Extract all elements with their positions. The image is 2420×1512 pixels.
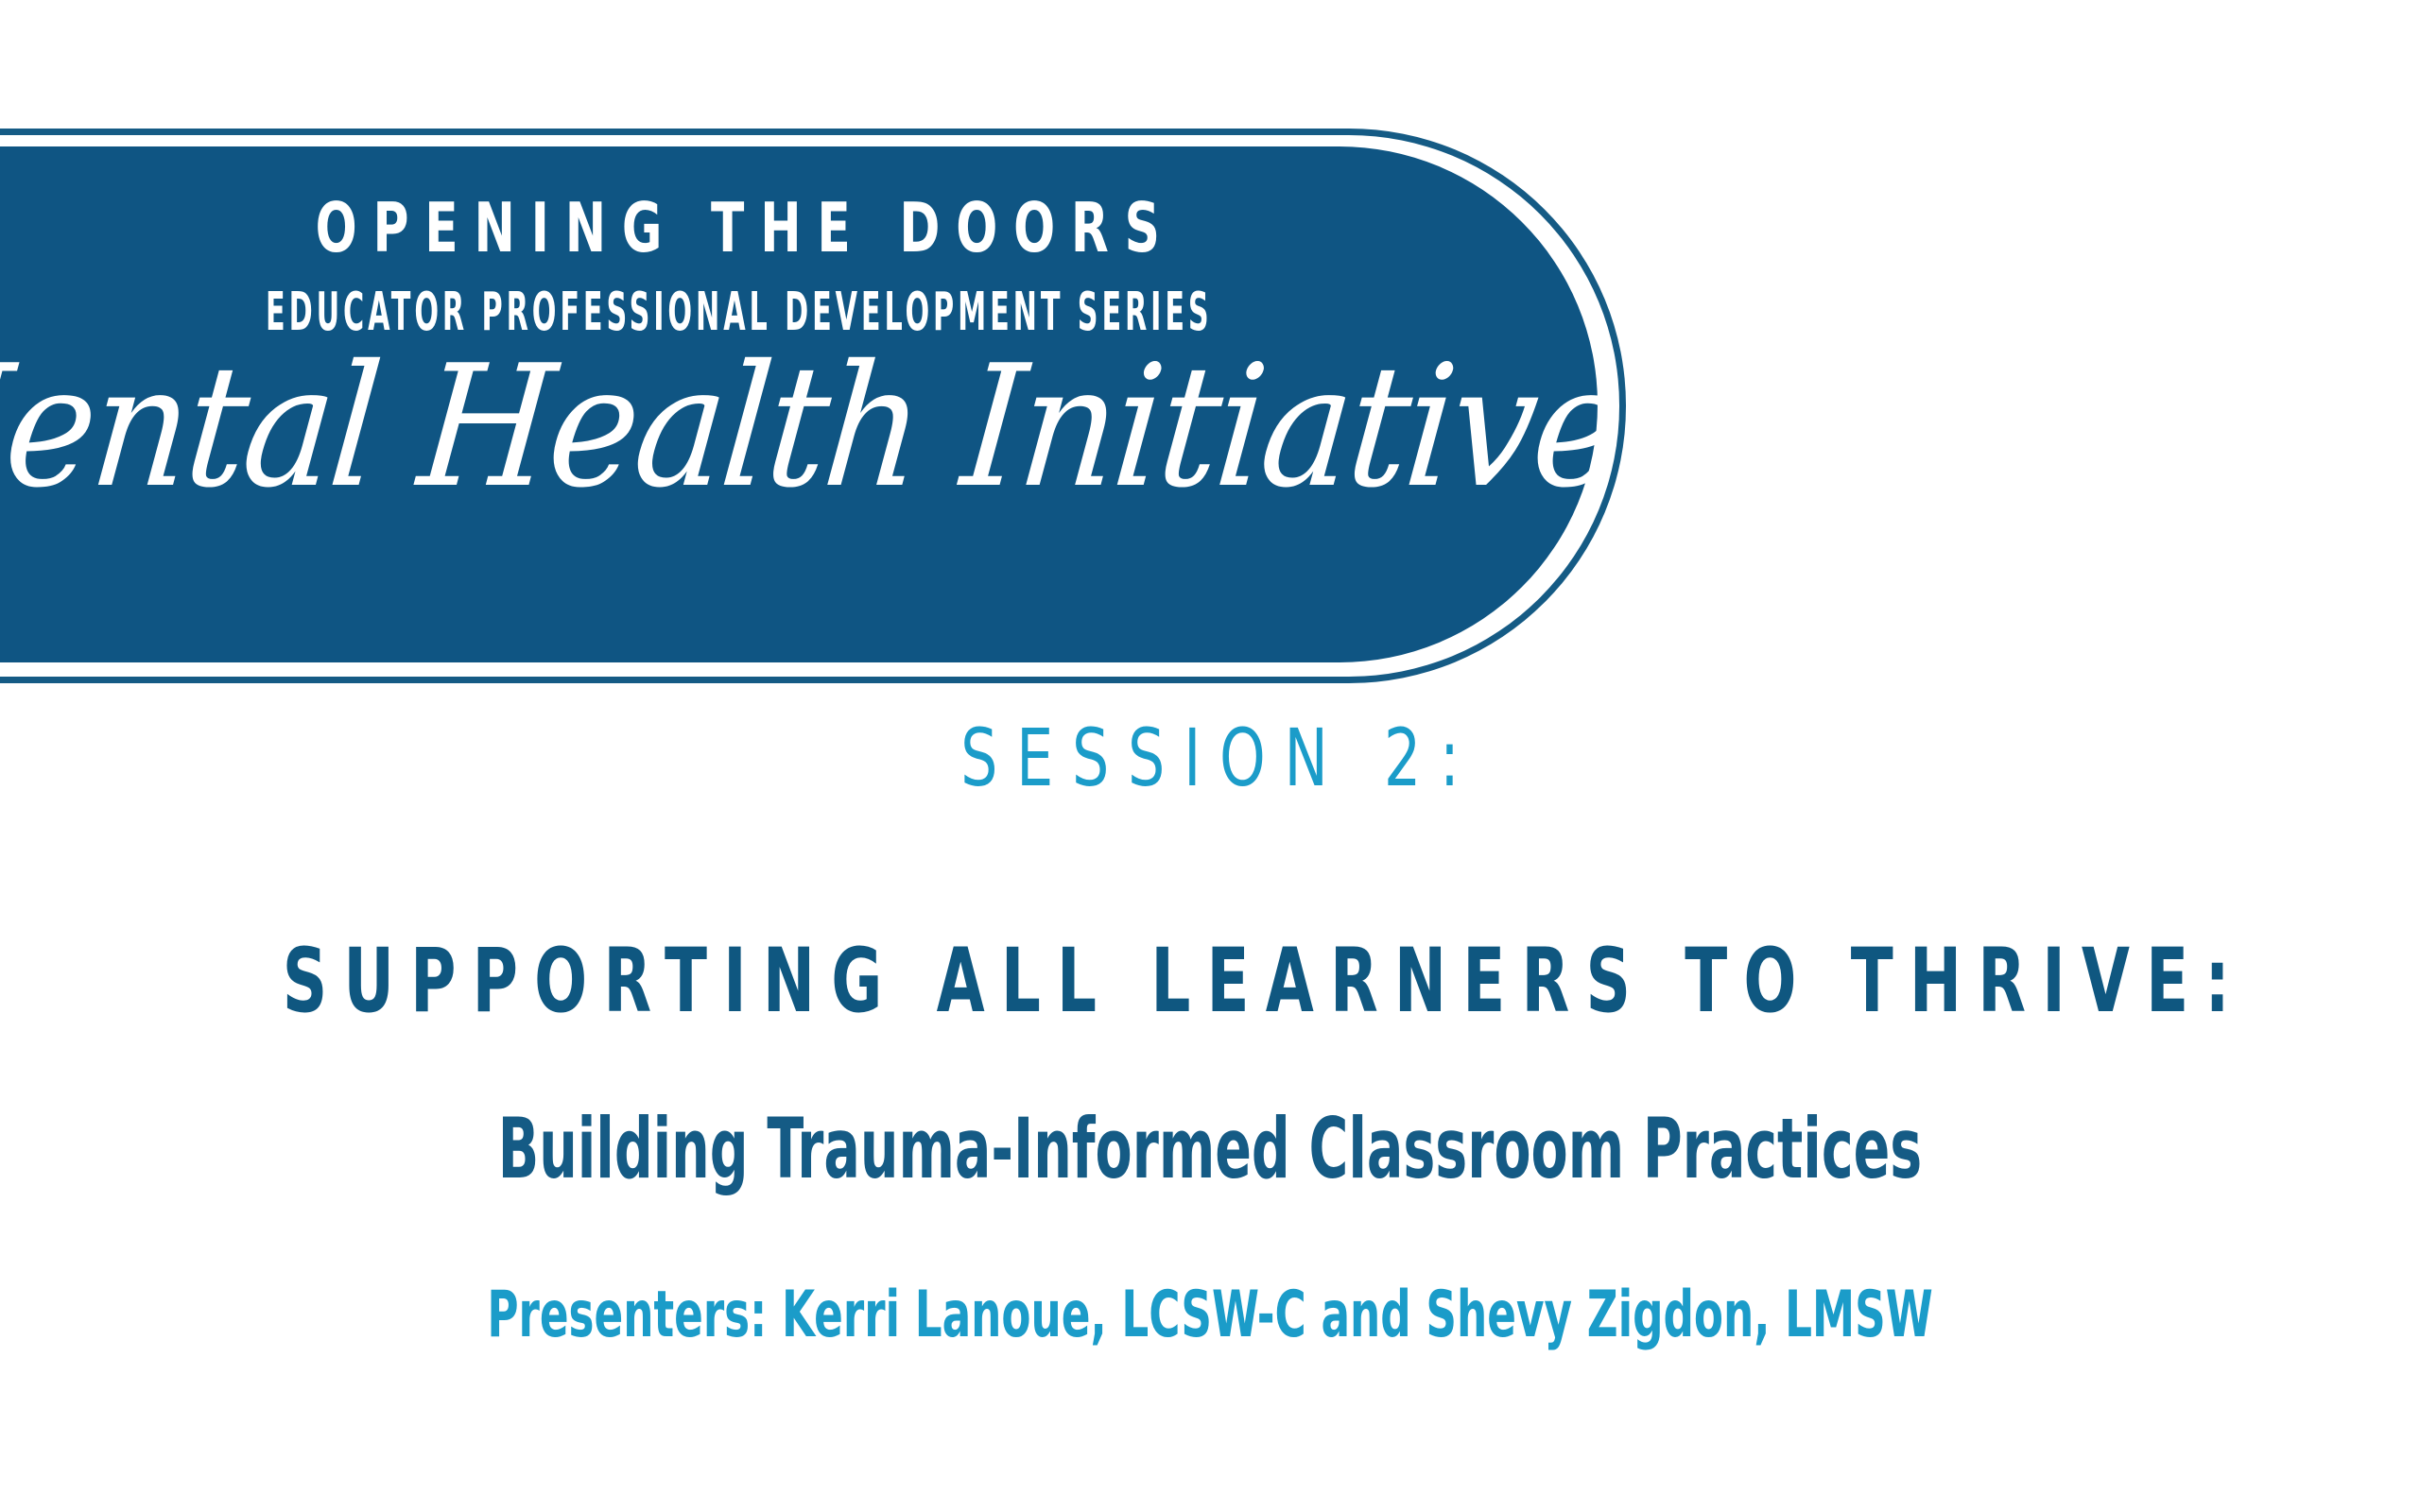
session-label: SESSION 2: [217, 718, 2202, 798]
page-title: SUPPORTING ALL LEARNERS TO THRIVE: [267, 937, 2154, 1026]
program-logo-badge: OPENING THE DOORS EDUCATOR PROFESSIONAL … [0, 0, 1683, 737]
slide-body: SESSION 2: SUPPORTING ALL LEARNERS TO TH… [0, 718, 2420, 1348]
title-slide: OPENING THE DOORS EDUCATOR PROFESSIONAL … [0, 0, 2420, 1512]
presenters-line: Presenters: Kerri Lanoue, LCSW-C and She… [315, 1283, 2105, 1348]
program-name-text: OPENING THE DOORS [300, 194, 1176, 262]
page-subtitle: Building Trauma-Informed Classroom Pract… [338, 1108, 2081, 1191]
badge-text-stack: OPENING THE DOORS EDUCATOR PROFESSIONAL … [0, 146, 1475, 662]
initiative-name-text: Mental Health Initiative [0, 343, 1628, 511]
